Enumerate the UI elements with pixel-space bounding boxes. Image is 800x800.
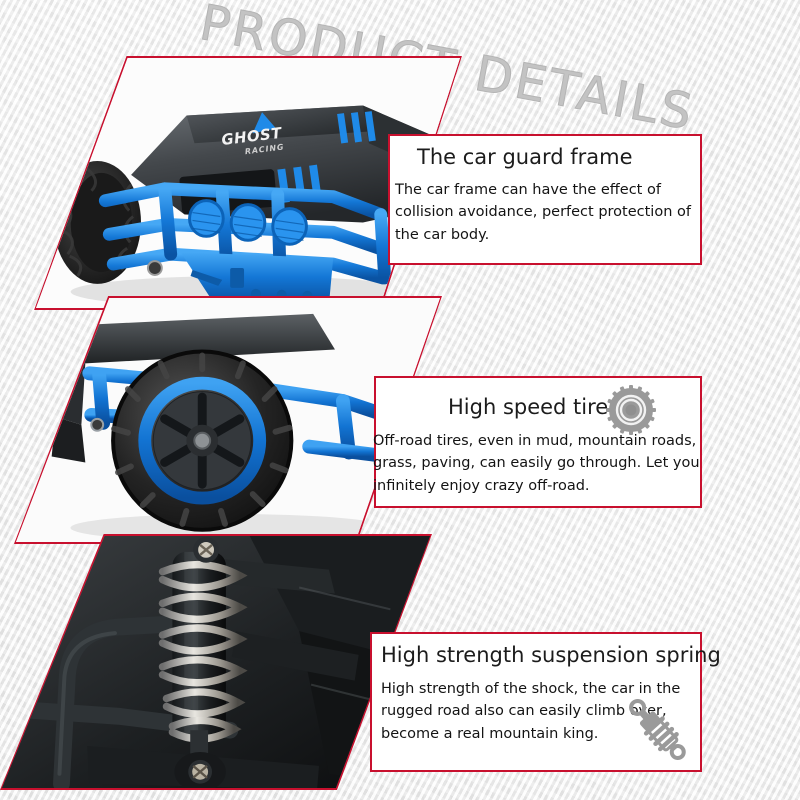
tire-icon	[606, 385, 656, 435]
detail-heading-suspension-spring: High strength suspension spring	[381, 643, 721, 667]
detail-card-guard-frame: The car guard frame The car frame can ha…	[388, 134, 702, 265]
detail-card-suspension-spring: High strength suspension spring High str…	[370, 632, 702, 772]
photo-image-suspension-spring	[2, 536, 430, 788]
product-photo-suspension-spring	[0, 534, 432, 790]
suspension-illustration	[2, 536, 430, 788]
detail-card-high-speed-tire: High speed tire	[374, 376, 702, 508]
detail-body-high-speed-tire: Off-road tires, even in mud, mountain ro…	[373, 430, 703, 497]
shock-absorber-icon	[620, 692, 694, 766]
detail-heading-guard-frame: The car guard frame	[417, 145, 633, 169]
detail-body-guard-frame: The car frame can have the effect of col…	[395, 179, 700, 246]
detail-heading-high-speed-tire: High speed tire	[448, 395, 608, 419]
